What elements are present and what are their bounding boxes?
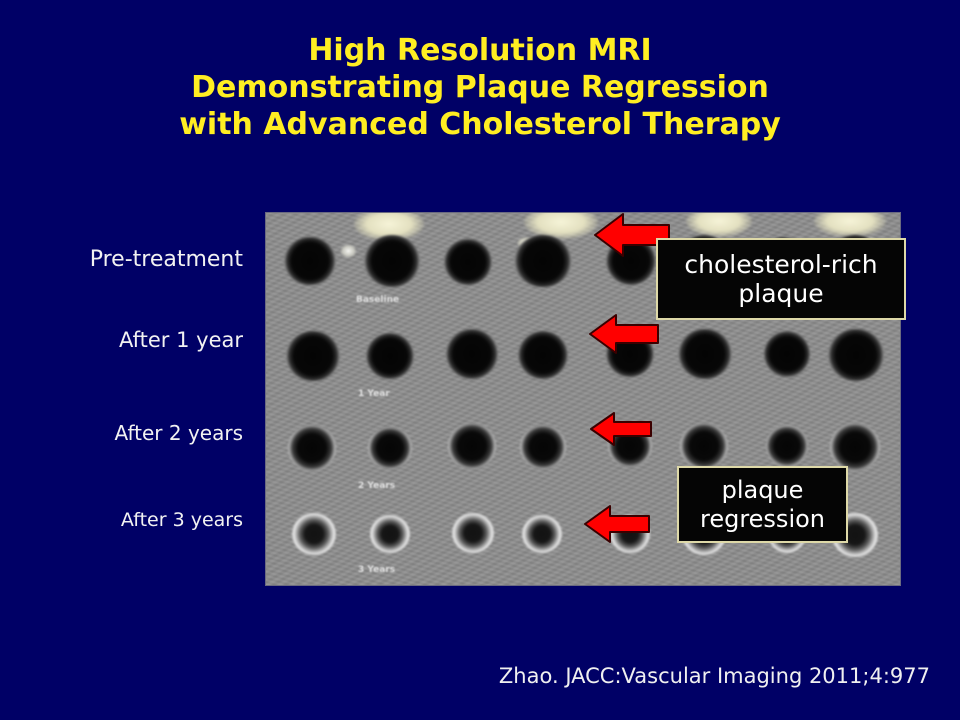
mri-vessel: [678, 329, 732, 379]
mri-row-tag: 3 Years: [358, 565, 395, 575]
mri-vessel: [520, 425, 566, 469]
stage-label-pre-treatment: Pre-treatment: [90, 247, 243, 272]
mri-vessel: [522, 515, 562, 553]
mri-row-tag: Baseline: [356, 295, 399, 305]
mri-vessel: [364, 235, 420, 287]
mri-vessel: [452, 513, 494, 553]
arrow-year-1: [588, 312, 660, 356]
title-line-2: Demonstrating Plaque Regression: [0, 69, 960, 106]
mri-vessel: [366, 333, 414, 379]
mri-vessel: [830, 423, 880, 471]
mri-vessel: [680, 423, 728, 469]
callout-line-2: plaque: [684, 279, 877, 309]
mri-vessel: [288, 425, 336, 471]
mri-row-tag: 2 Years: [358, 481, 395, 491]
citation-text: Zhao. JACC:Vascular Imaging 2011;4:977: [0, 664, 930, 688]
mri-vessel: [448, 423, 496, 469]
arrow-year-2: [589, 410, 653, 448]
arrow-plaque-regression: [583, 503, 651, 545]
mri-vessel: [446, 329, 498, 379]
stage-label-after-1-year: After 1 year: [119, 328, 243, 352]
mri-vessel: [828, 329, 884, 381]
callout-line-1: plaque: [700, 476, 825, 504]
mri-vessel: [284, 237, 336, 285]
callout-line-1: cholesterol-rich: [684, 250, 877, 280]
page-title: High Resolution MRI Demonstrating Plaque…: [0, 32, 960, 143]
callout-plaque-regression: plaque regression: [677, 466, 848, 543]
mri-vessel: [514, 235, 572, 287]
mri-vessel: [370, 515, 410, 553]
mri-vessel: [444, 239, 492, 285]
mri-row-tag: 1 Year: [358, 389, 390, 399]
mri-vessel: [286, 331, 340, 381]
mri-vessel: [764, 331, 810, 377]
stage-label-after-3-years: After 3 years: [121, 509, 243, 531]
slide-root: High Resolution MRI Demonstrating Plaque…: [0, 0, 960, 720]
title-line-1: High Resolution MRI: [0, 32, 960, 69]
mri-vessel: [292, 513, 336, 555]
callout-line-2: regression: [700, 505, 825, 533]
mri-vessel: [518, 331, 568, 379]
mri-vessel: [368, 427, 412, 469]
title-line-3: with Advanced Cholesterol Therapy: [0, 106, 960, 143]
callout-cholesterol-rich-plaque: cholesterol-rich plaque: [656, 238, 906, 320]
mri-vessel: [766, 425, 808, 467]
stage-label-after-2-years: After 2 years: [114, 421, 243, 445]
